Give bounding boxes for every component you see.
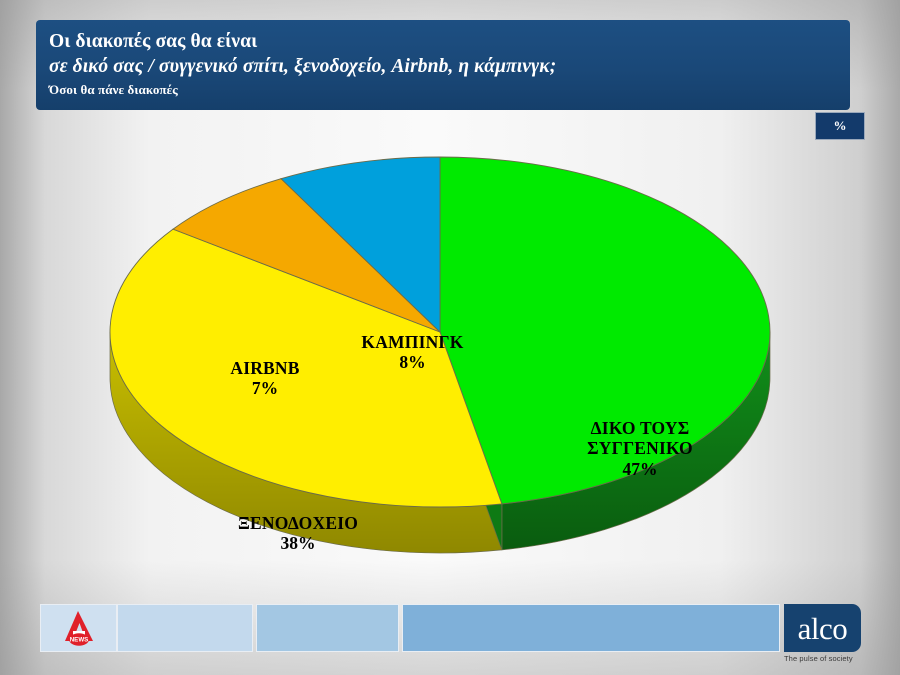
- slice-label-camping: ΚΑΜΠΙΝΓΚ 8%: [325, 332, 500, 373]
- alpha-news-logo: NEWS: [40, 604, 117, 652]
- slice-label-hotel: ΞΕΝΟΔΟΧΕΙΟ 38%: [198, 513, 398, 554]
- footer-bar: NEWS alco The pulse of society: [0, 604, 900, 656]
- header-subtitle: Όσοι θα πάνε διακοπές: [49, 80, 850, 99]
- svg-text:NEWS: NEWS: [69, 637, 88, 644]
- slice-label-airbnb: AIRBNB 7%: [205, 358, 325, 399]
- percent-unit-badge: %: [815, 112, 865, 140]
- slide-header: Οι διακοπές σας θα είναι σε δικό σας / σ…: [36, 20, 850, 110]
- slice-label-own-relative-house: ΔΙΚΟ ΤΟΥΣ ΣΥΓΓΕΝΙΚΟ 47%: [545, 418, 735, 479]
- alco-tagline: The pulse of society: [784, 654, 884, 663]
- pie-chart: ΔΙΚΟ ΤΟΥΣ ΣΥΓΓΕΝΙΚΟ 47% ΞΕΝΟΔΟΧΕΙΟ 38% A…: [0, 150, 900, 580]
- alco-wordmark: alco: [798, 613, 848, 644]
- footer-segment-3: [402, 604, 780, 652]
- alpha-a-icon: NEWS: [61, 609, 97, 647]
- footer-segment-1: [117, 604, 253, 652]
- header-line-1: Οι διακοπές σας θα είναι: [49, 29, 850, 54]
- footer-segment-2: [256, 604, 399, 652]
- header-line-2: σε δικό σας / συγγενικό σπίτι, ξενοδοχεί…: [49, 54, 850, 80]
- alco-brand-logo: alco: [784, 604, 861, 652]
